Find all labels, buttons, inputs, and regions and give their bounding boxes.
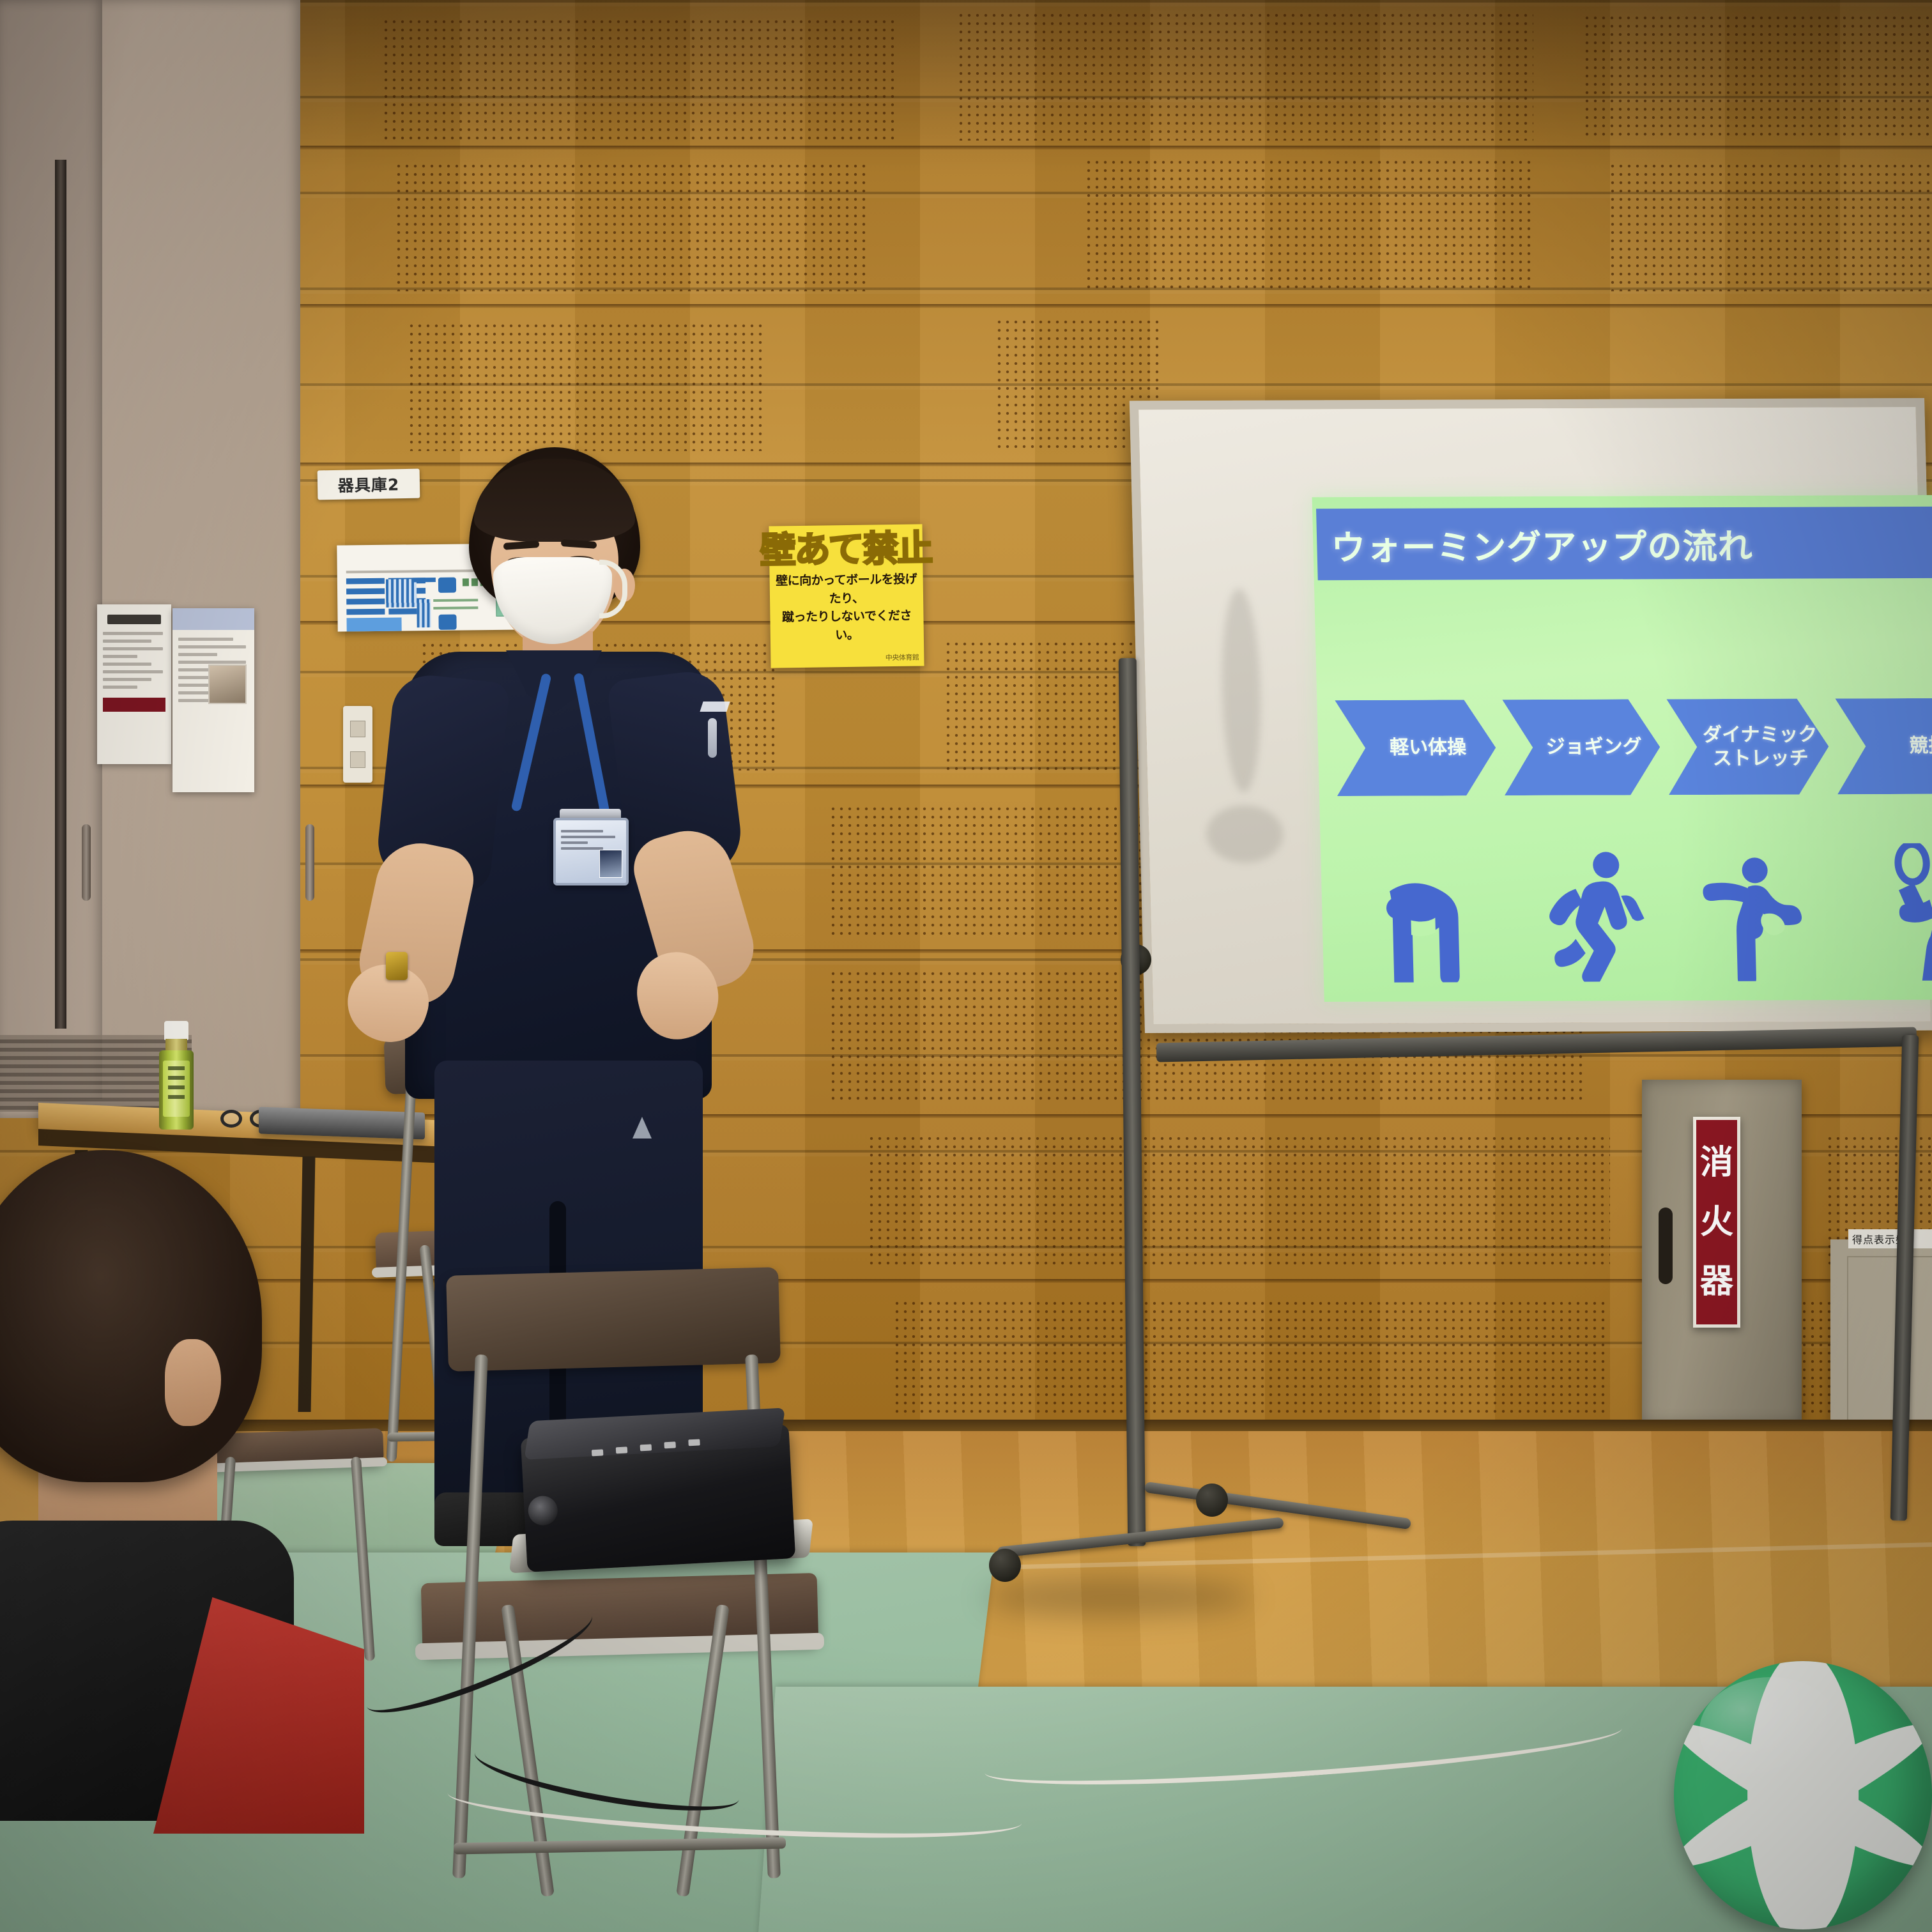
warning-footer: 中央体育館 (885, 652, 919, 663)
chevron-step-3-label: ダイナミック ストレッチ (1703, 723, 1818, 771)
slide-chevron-row: 軽い体操 ジョギング ダイナミック ストレッチ 競技 (1335, 698, 1932, 796)
score-panel-inner (1847, 1256, 1932, 1441)
projected-slide: ウォーミングアップの流れ 軽い体操 ジョギング ダイナミック ストレッチ 競技 (1312, 495, 1932, 1002)
gymnasium-presentation-scene: 器具庫2 壁あて禁止 壁に向かってボールを投げたり、 蹴ったりしないでください。… (0, 0, 1932, 1932)
acoustic-panel (894, 1301, 1610, 1413)
door-gap (55, 160, 66, 1029)
projector-button[interactable] (616, 1446, 627, 1453)
score-display-panel: 得点表示盤 (1830, 1239, 1932, 1450)
chevron-step-2-label: ジョギング (1545, 735, 1642, 760)
slide-title-bar: ウォーミングアップの流れ (1316, 507, 1932, 581)
chevron-step-4-label: 競技 (1909, 734, 1932, 758)
fire-sign-char-3: 器 (1700, 1265, 1733, 1298)
slide-title-text: ウォーミングアップの流れ (1330, 517, 1753, 569)
projector-button[interactable] (640, 1444, 652, 1451)
slide-pictogram-row (1345, 827, 1932, 983)
door-handle[interactable] (82, 824, 91, 901)
projector-button[interactable] (664, 1441, 675, 1448)
running-icon (1513, 828, 1684, 982)
racquet-swing-icon (1848, 827, 1932, 981)
projector-button[interactable] (592, 1449, 603, 1456)
acoustic-panel (383, 19, 894, 141)
id-badge (553, 818, 629, 885)
beach-ball[interactable] (1674, 1661, 1932, 1929)
acoustic-panel (869, 1136, 1610, 1266)
acoustic-panel (1610, 164, 1929, 291)
notice-paper-right (172, 608, 254, 792)
chevron-step-3: ダイナミック ストレッチ (1666, 698, 1830, 795)
audience-member (0, 1150, 383, 1932)
projector[interactable] (521, 1424, 795, 1572)
presenter-face-mask (493, 557, 612, 644)
eyeglasses-lens-left (220, 1110, 242, 1128)
bottle-cap (164, 1021, 188, 1040)
whiteboard-caster (989, 1549, 1021, 1582)
chevron-step-2: ジョギング (1502, 699, 1661, 795)
ball-highlight (1699, 1677, 1841, 1784)
notice-paper-left (97, 604, 171, 764)
acoustic-panel (409, 323, 767, 451)
audience-head (0, 1150, 262, 1482)
acoustic-panel (1086, 160, 1533, 291)
chevron-step-4: 競技 (1835, 698, 1932, 794)
bottle-label (163, 1061, 190, 1117)
projector-power-button[interactable] (688, 1439, 700, 1446)
whiteboard-caster (1196, 1483, 1228, 1517)
cabinet-handle-slot[interactable] (1659, 1207, 1673, 1284)
door-handle[interactable] (305, 824, 314, 901)
fire-sign-char-1: 消 (1700, 1146, 1733, 1179)
whiteboard-with-projection: ウォーミングアップの流れ 軽い体操 ジョギング ダイナミック ストレッチ 競技 (1130, 398, 1932, 1033)
sliding-partition-door-secondary[interactable] (0, 0, 102, 1099)
leg-stretch-icon (1680, 827, 1851, 981)
shirt-logo-icon (700, 701, 730, 712)
chevron-step-1: 軽い体操 (1335, 700, 1497, 796)
whiteboard-frame: ウォーミングアップの流れ 軽い体操 ジョギング ダイナミック ストレッチ 競技 (1130, 398, 1932, 1033)
fire-extinguisher-sign: 消 火 器 (1693, 1117, 1740, 1328)
badge-photo (599, 850, 622, 878)
acoustic-panel (396, 164, 869, 291)
presenter-clicker[interactable] (386, 952, 408, 980)
tea-bottle[interactable] (157, 1021, 196, 1130)
score-panel-label: 得点表示盤 (1848, 1229, 1932, 1248)
bend-stretch-icon (1345, 829, 1517, 983)
shirt-logo-stripe-icon (708, 718, 717, 758)
chevron-step-1-label: 軽い体操 (1390, 736, 1467, 760)
acoustic-panel (958, 13, 1533, 141)
acoustic-panel (1584, 15, 1929, 141)
fire-sign-char-2: 火 (1700, 1206, 1733, 1239)
